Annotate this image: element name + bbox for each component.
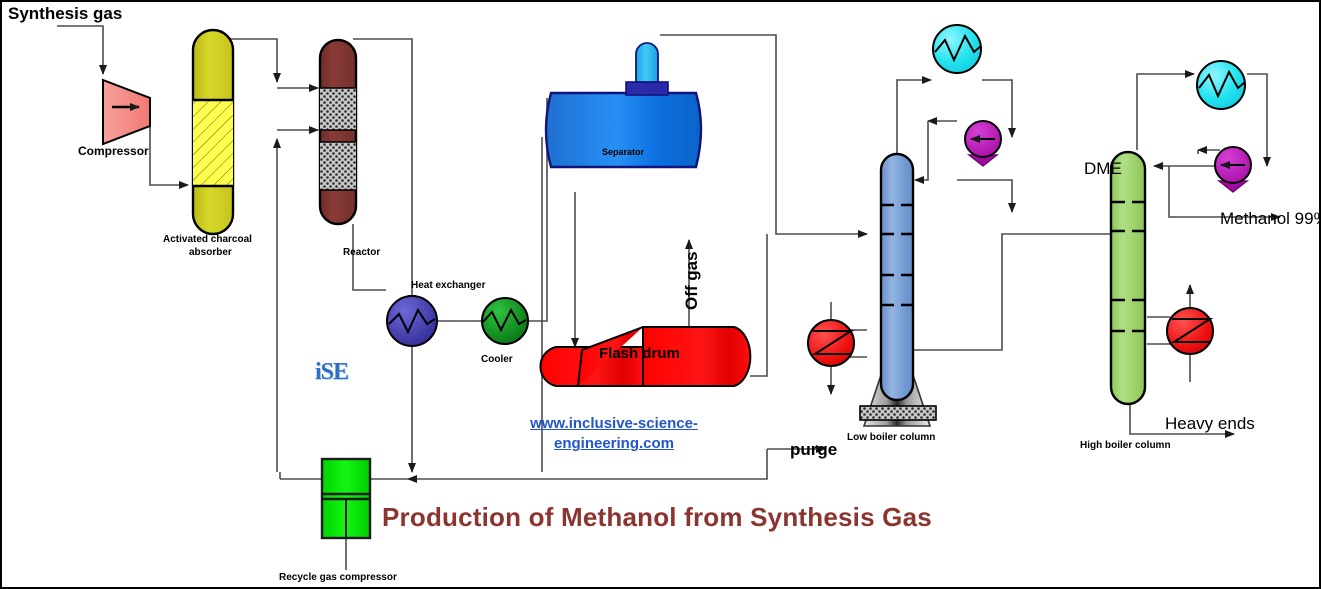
pipe-hbc-overhead-to-condenser <box>1137 74 1194 150</box>
website-link[interactable]: www.inclusive-science-engineering.com <box>504 414 724 455</box>
pipe-lbc-reflux <box>915 121 928 180</box>
process-flow-diagram: Synthesis gas Compressor Activated charc… <box>0 0 1321 589</box>
high-boiler-column-symbol[interactable] <box>1111 152 1145 404</box>
hbc-condenser-symbol[interactable] <box>1197 61 1245 109</box>
lbc-reflux-pump-symbol[interactable] <box>965 121 1001 166</box>
equipment-label-cooler: Cooler <box>481 354 513 365</box>
pipe-lbc-overhead-to-condenser <box>897 80 931 157</box>
pipe-reactor-top-to-hx <box>353 39 412 304</box>
hbc-reboiler-symbol[interactable] <box>1167 308 1213 354</box>
stream-label-heavy-ends: Heavy ends <box>1165 414 1255 434</box>
pipe-lbc-bottoms-to-hbc <box>902 234 1112 350</box>
activated-charcoal-absorber-symbol[interactable] <box>193 30 233 234</box>
low-boiler-column-symbol[interactable] <box>860 154 936 426</box>
recycle-gas-compressor-symbol[interactable] <box>322 459 370 538</box>
equipment-label-flash-drum: Flash drum <box>599 345 680 362</box>
pipe-compressor-to-absorber <box>150 125 188 185</box>
lbc-reboiler-symbol[interactable] <box>808 320 854 366</box>
ise-watermark: iSE <box>315 359 348 386</box>
stream-label-off-gas: Off gas <box>682 251 702 310</box>
cooler-symbol[interactable] <box>482 298 528 344</box>
pipe-cooler-to-separator <box>526 98 547 321</box>
equipment-label-absorber-line2: absorber <box>189 247 232 258</box>
equipment-label-recycle-gas-compressor: Recycle gas compressor <box>279 572 397 583</box>
stream-label-dme: DME <box>1084 159 1122 179</box>
equipment-label-absorber-line1: Activated charcoal <box>163 234 252 245</box>
stream-label-methanol-product: Methanol 99% <box>1220 209 1321 229</box>
compressor-symbol[interactable] <box>103 80 150 144</box>
stream-label-synthesis-gas: Synthesis gas <box>8 4 122 24</box>
pipe-feed-to-compressor <box>57 26 103 74</box>
equipment-label-heat-exchanger: Heat exchanger <box>411 280 485 291</box>
stream-label-purge: purge <box>790 440 837 460</box>
equipment-label-compressor: Compressor <box>78 144 149 158</box>
equipment-label-high-boiler-column: High boiler column <box>1080 440 1171 451</box>
pipe-flash-to-riser <box>750 234 767 376</box>
flow-canvas <box>2 2 1321 589</box>
lbc-condenser-symbol[interactable] <box>933 25 981 73</box>
pipe-hbc-condenser-to-pump <box>1247 74 1267 166</box>
heat-exchanger-symbol[interactable] <box>387 296 437 346</box>
hbc-reflux-pump-symbol[interactable] <box>1215 147 1251 192</box>
diagram-title: Production of Methanol from Synthesis Ga… <box>382 502 932 533</box>
reactor-symbol[interactable] <box>320 40 356 224</box>
equipment-label-low-boiler-column: Low boiler column <box>847 432 935 443</box>
equipment-label-separator: Separator <box>602 147 644 157</box>
pipe-lbc-distillate-down <box>957 180 1012 212</box>
equipment-label-reactor: Reactor <box>343 247 380 258</box>
